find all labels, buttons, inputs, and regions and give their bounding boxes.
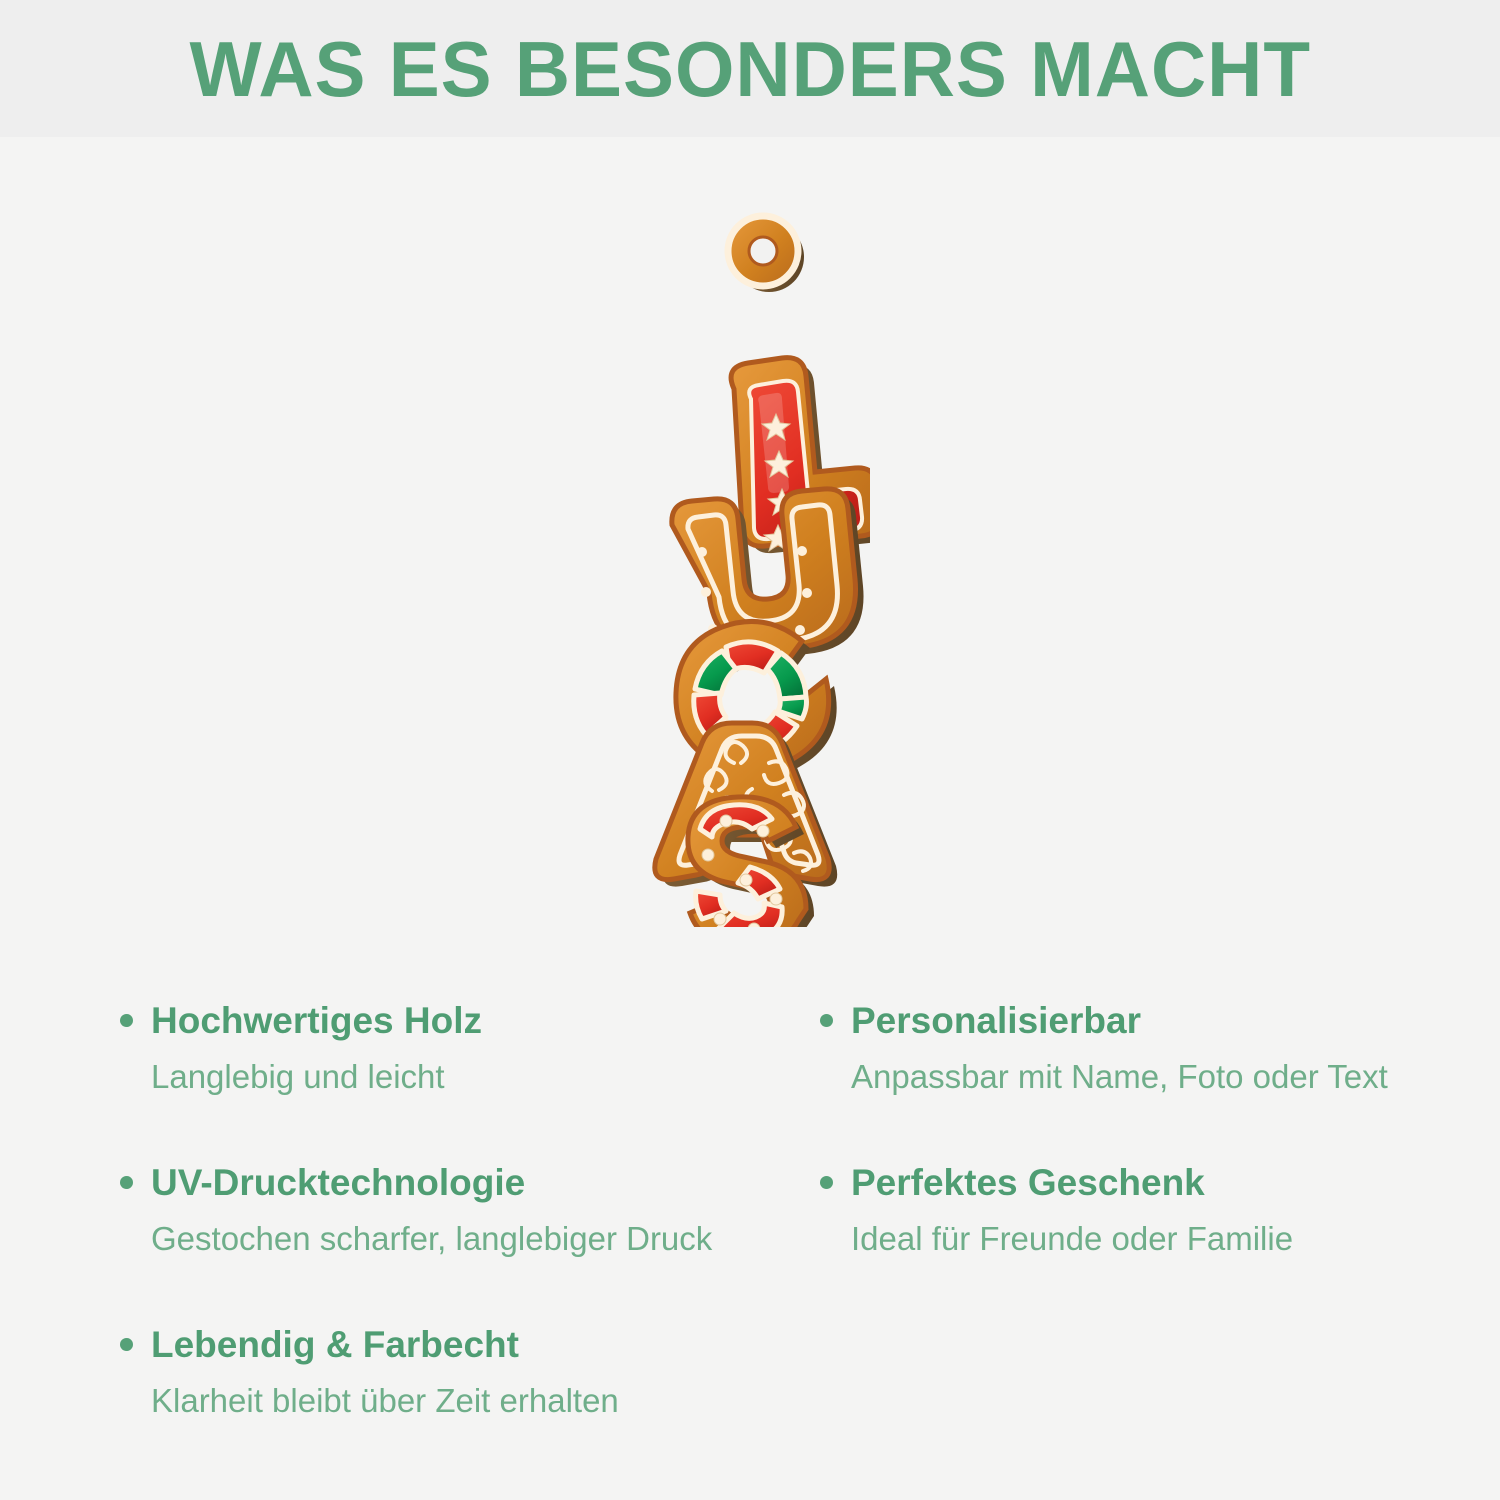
feature-column-left: Hochwertiges Holz Langlebig und leicht U…: [120, 1000, 820, 1486]
feature-heading-row: UV-Drucktechnologie: [120, 1162, 820, 1205]
keyring-hole-icon: [728, 216, 804, 292]
bullet-icon: [120, 1014, 133, 1027]
feature-item: UV-Drucktechnologie Gestochen scharfer, …: [120, 1162, 820, 1258]
feature-title: Personalisierbar: [851, 1000, 1141, 1043]
feature-heading-row: Perfektes Geschenk: [820, 1162, 1500, 1205]
bullet-icon: [120, 1338, 133, 1351]
feature-subtitle: Gestochen scharfer, langlebiger Druck: [151, 1219, 820, 1259]
feature-item: Personalisierbar Anpassbar mit Name, Fot…: [820, 1000, 1500, 1096]
feature-subtitle: Anpassbar mit Name, Foto oder Text: [851, 1057, 1500, 1097]
feature-title: UV-Drucktechnologie: [151, 1162, 525, 1205]
feature-list: Hochwertiges Holz Langlebig und leicht U…: [0, 1000, 1500, 1486]
feature-heading-row: Personalisierbar: [820, 1000, 1500, 1043]
bullet-icon: [820, 1014, 833, 1027]
feature-subtitle: Klarheit bleibt über Zeit erhalten: [151, 1381, 820, 1421]
feature-heading-row: Lebendig & Farbecht: [120, 1324, 820, 1367]
gingerbread-name-keychain: [630, 207, 870, 927]
feature-item: Hochwertiges Holz Langlebig und leicht: [120, 1000, 820, 1096]
bullet-icon: [120, 1176, 133, 1189]
feature-title: Lebendig & Farbecht: [151, 1324, 519, 1367]
bullet-icon: [820, 1176, 833, 1189]
feature-subtitle: Ideal für Freunde oder Familie: [851, 1219, 1500, 1259]
feature-title: Hochwertiges Holz: [151, 1000, 482, 1043]
feature-heading-row: Hochwertiges Holz: [120, 1000, 820, 1043]
feature-item: Perfektes Geschenk Ideal für Freunde ode…: [820, 1162, 1500, 1258]
product-image: LUCAS: [620, 197, 880, 937]
feature-subtitle: Langlebig und leicht: [151, 1057, 820, 1097]
feature-title: Perfektes Geschenk: [851, 1162, 1205, 1205]
feature-column-right: Personalisierbar Anpassbar mit Name, Fot…: [820, 1000, 1500, 1486]
feature-item: Lebendig & Farbecht Klarheit bleibt über…: [120, 1324, 820, 1420]
product-hero: LUCAS: [0, 137, 1500, 997]
page-title: WAS ES BESONDERS MACHT: [189, 30, 1311, 108]
header-band: WAS ES BESONDERS MACHT: [0, 0, 1500, 137]
